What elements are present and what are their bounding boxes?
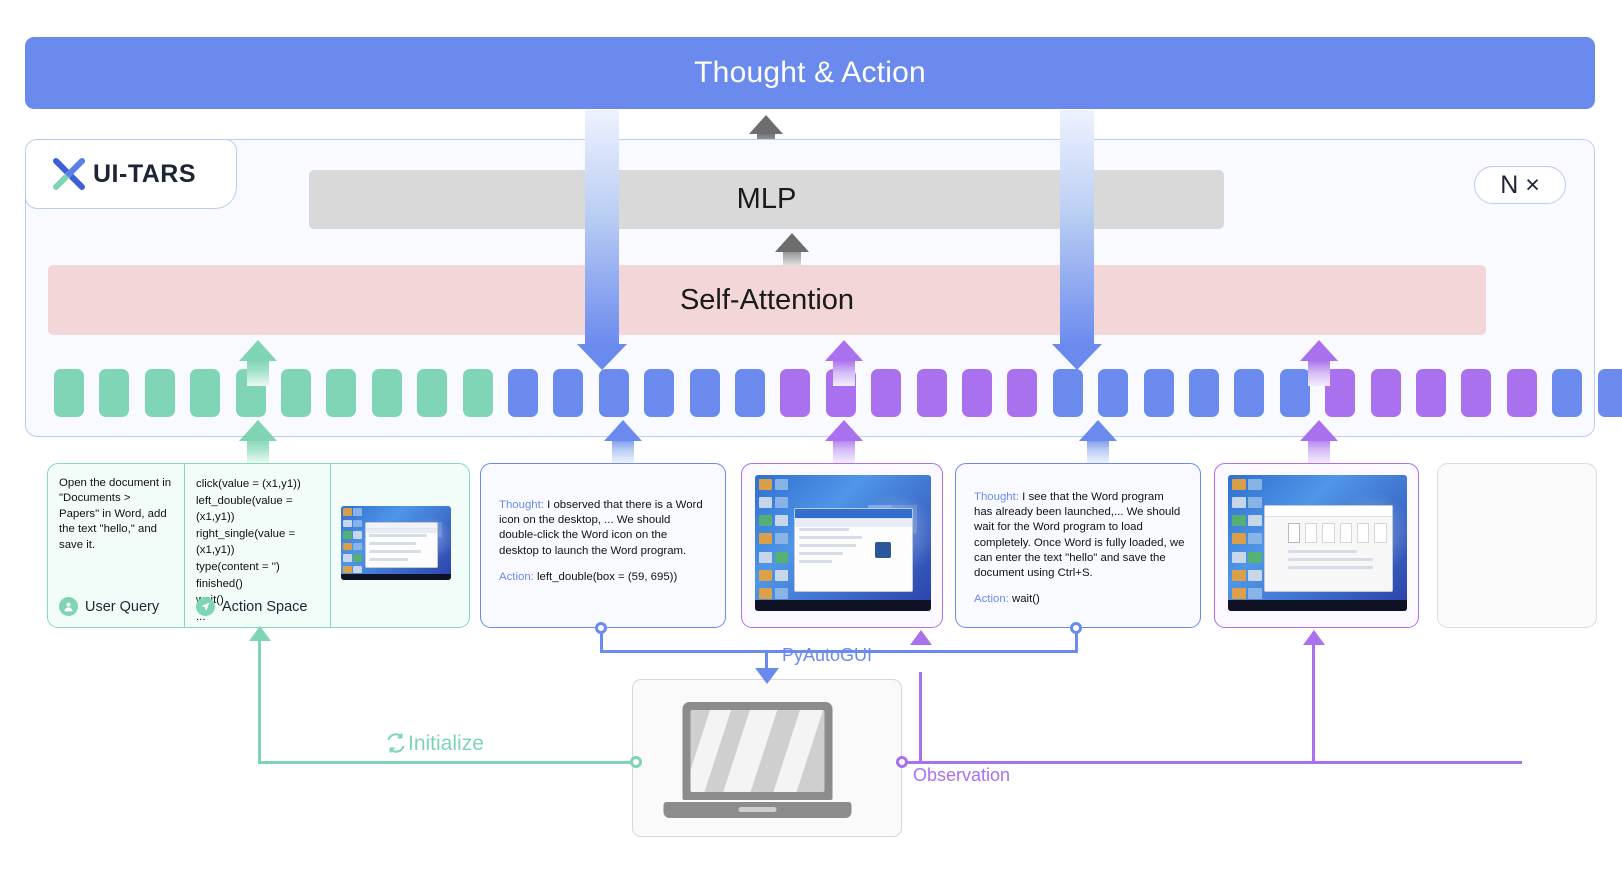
- obs2-up-arrowhead: [1300, 420, 1338, 441]
- token-text-tokens-2: [1053, 369, 1083, 417]
- pyautogui-junction-dot-1: [595, 622, 607, 634]
- action-space-line: type(content = ''): [196, 559, 319, 576]
- token-image-tokens-1: [871, 369, 901, 417]
- token-image-tokens-1: [780, 369, 810, 417]
- observation-label: Observation: [913, 765, 1010, 786]
- token-text-tokens-1: [508, 369, 538, 417]
- token-text-tokens-1: [599, 369, 629, 417]
- logo-wordmark: UI-TARS: [93, 160, 196, 189]
- observation-line-v-right: [1312, 632, 1315, 763]
- pyautogui-arrowhead: [755, 668, 779, 684]
- token-instruction-tokens: [326, 369, 356, 417]
- initialize-line-v: [258, 628, 261, 763]
- device-box: [632, 679, 902, 837]
- initialize-line-h: [258, 761, 636, 764]
- windows-desktop-screenshot: [341, 506, 451, 580]
- token-instruction-tokens: [99, 369, 129, 417]
- thought1-up-arrowhead: [604, 420, 642, 441]
- input-panel: Open the document in "Documents > Papers…: [47, 463, 470, 628]
- input-to-token-arrowhead: [239, 340, 277, 361]
- ui-tars-model-card: UI-TARS N × MLP Self-Attention: [25, 139, 1595, 437]
- user-query-up-arrowhead: [239, 420, 277, 441]
- step-1-body: Thought: I observed that there is a Word…: [481, 464, 725, 585]
- token-text-tokens-1: [735, 369, 765, 417]
- token-to-thought-bar-1: [585, 110, 619, 346]
- input-to-token-bar: [247, 360, 269, 386]
- diagram-canvas: Thought & Action UI-TARS N × MLP: [0, 0, 1622, 890]
- loop-count-label: N ×: [1500, 171, 1540, 200]
- token-text-tokens-2: [1280, 369, 1310, 417]
- token-image-tokens-2: [1461, 369, 1491, 417]
- action-space-line: left_double(value = (x1,y1)): [196, 493, 319, 526]
- token-instruction-tokens: [372, 369, 402, 417]
- token-to-thought-arrowhead-1: [577, 344, 627, 370]
- user-query-column: Open the document in "Documents > Papers…: [48, 464, 185, 627]
- action-space-footer-label: Action Space: [222, 599, 307, 615]
- banner-title: Thought & Action: [694, 56, 926, 90]
- token-to-thought-bar-2: [1060, 110, 1094, 346]
- mlp-label: MLP: [737, 183, 797, 216]
- token-image-tokens-2: [1507, 369, 1537, 417]
- obs1-to-token-bar: [833, 360, 855, 386]
- obs1-up-arrowhead: [825, 420, 863, 441]
- self-attention-label: Self-Attention: [680, 284, 854, 317]
- token-text-tokens-2: [1189, 369, 1219, 417]
- observation-arrowhead-2: [1303, 630, 1325, 645]
- token-to-thought-arrowhead-2: [1052, 344, 1102, 370]
- action-space-line: right_single(value = (x1,y1)): [196, 526, 319, 559]
- token-image-tokens-1: [917, 369, 947, 417]
- action-space-line: click(value = (x1,y1)): [196, 476, 319, 493]
- action-space-column: click(value = (x1,y1))left_double(value …: [185, 464, 331, 627]
- windows-desktop-file-explorer-screenshot: [755, 475, 931, 611]
- token-instruction-tokens: [417, 369, 447, 417]
- pyautogui-label: PyAutoGUI: [782, 645, 872, 666]
- laptop-computer-icon: [683, 702, 852, 818]
- observation-line-v-mid: [919, 672, 922, 763]
- token-image-tokens-1: [962, 369, 992, 417]
- token-instruction-tokens: [281, 369, 311, 417]
- obs2-to-token-bar: [1308, 360, 1330, 386]
- token-image-tokens-2: [1371, 369, 1401, 417]
- token-image-tokens-1: [1007, 369, 1037, 417]
- observation-line-h: [902, 761, 1522, 764]
- initial-screenshot-column: [331, 464, 469, 627]
- obs2-to-token-arrowhead: [1300, 340, 1338, 361]
- step-1-action-label: Action:: [499, 571, 534, 583]
- observation-junction-dot: [896, 756, 908, 768]
- token-image-tokens-2: [1416, 369, 1446, 417]
- thought2-up-arrowhead: [1079, 420, 1117, 441]
- thought-action-step-1: Thought: I observed that there is a Word…: [480, 463, 726, 628]
- step-2-thought-text: I see that the Word program has already …: [974, 491, 1184, 579]
- step-2-action-label: Action:: [974, 593, 1009, 605]
- user-icon: [59, 597, 78, 616]
- refresh-icon: [384, 731, 408, 760]
- token-text-tokens-2: [1098, 369, 1128, 417]
- token-text-tokens-3: [1552, 369, 1582, 417]
- user-query-text: Open the document in "Documents > Papers…: [48, 464, 184, 553]
- token-instruction-tokens: [190, 369, 220, 417]
- observation-1: [741, 463, 943, 628]
- initialize-arrowhead: [249, 626, 271, 641]
- user-query-footer-label: User Query: [85, 599, 159, 615]
- token-instruction-tokens: [463, 369, 493, 417]
- ui-tars-logo: UI-TARS: [25, 139, 237, 209]
- obs1-to-token-arrowhead: [825, 340, 863, 361]
- token-instruction-tokens: [145, 369, 175, 417]
- word-start-screen-screenshot: [1228, 475, 1407, 611]
- token-sequence: [44, 369, 1574, 419]
- thought-action-step-2: Thought: I see that the Word program has…: [955, 463, 1201, 628]
- step-1-thought-label: Thought:: [499, 499, 544, 511]
- step-2-thought-label: Thought:: [974, 491, 1019, 503]
- loop-count-badge: N ×: [1474, 166, 1566, 204]
- x-mark-logo-icon: [52, 157, 86, 191]
- token-text-tokens-1: [690, 369, 720, 417]
- initialize-junction-dot: [630, 756, 642, 768]
- observation-3: [1437, 463, 1597, 628]
- step-2-action-text: wait(): [1009, 593, 1040, 605]
- step-1-action-text: left_double(box = (59, 695)): [534, 571, 677, 583]
- token-text-tokens-1: [553, 369, 583, 417]
- observation-2: [1214, 463, 1419, 628]
- paper-plane-icon: [196, 597, 215, 616]
- observation-arrowhead-1: [910, 630, 932, 645]
- user-query-footer: User Query: [59, 597, 159, 616]
- self-attention-block: Self-Attention: [48, 265, 1486, 335]
- thought-and-action-banner: Thought & Action: [25, 37, 1595, 109]
- step-2-body: Thought: I see that the Word program has…: [956, 464, 1200, 607]
- token-instruction-tokens: [54, 369, 84, 417]
- token-text-tokens-3: [1598, 369, 1622, 417]
- action-space-footer: Action Space: [196, 597, 307, 616]
- initialize-label: Initialize: [408, 732, 484, 756]
- token-text-tokens-2: [1144, 369, 1174, 417]
- token-text-tokens-1: [644, 369, 674, 417]
- action-space-line: finished(): [196, 576, 319, 593]
- pyautogui-junction-dot-2: [1070, 622, 1082, 634]
- token-text-tokens-2: [1234, 369, 1264, 417]
